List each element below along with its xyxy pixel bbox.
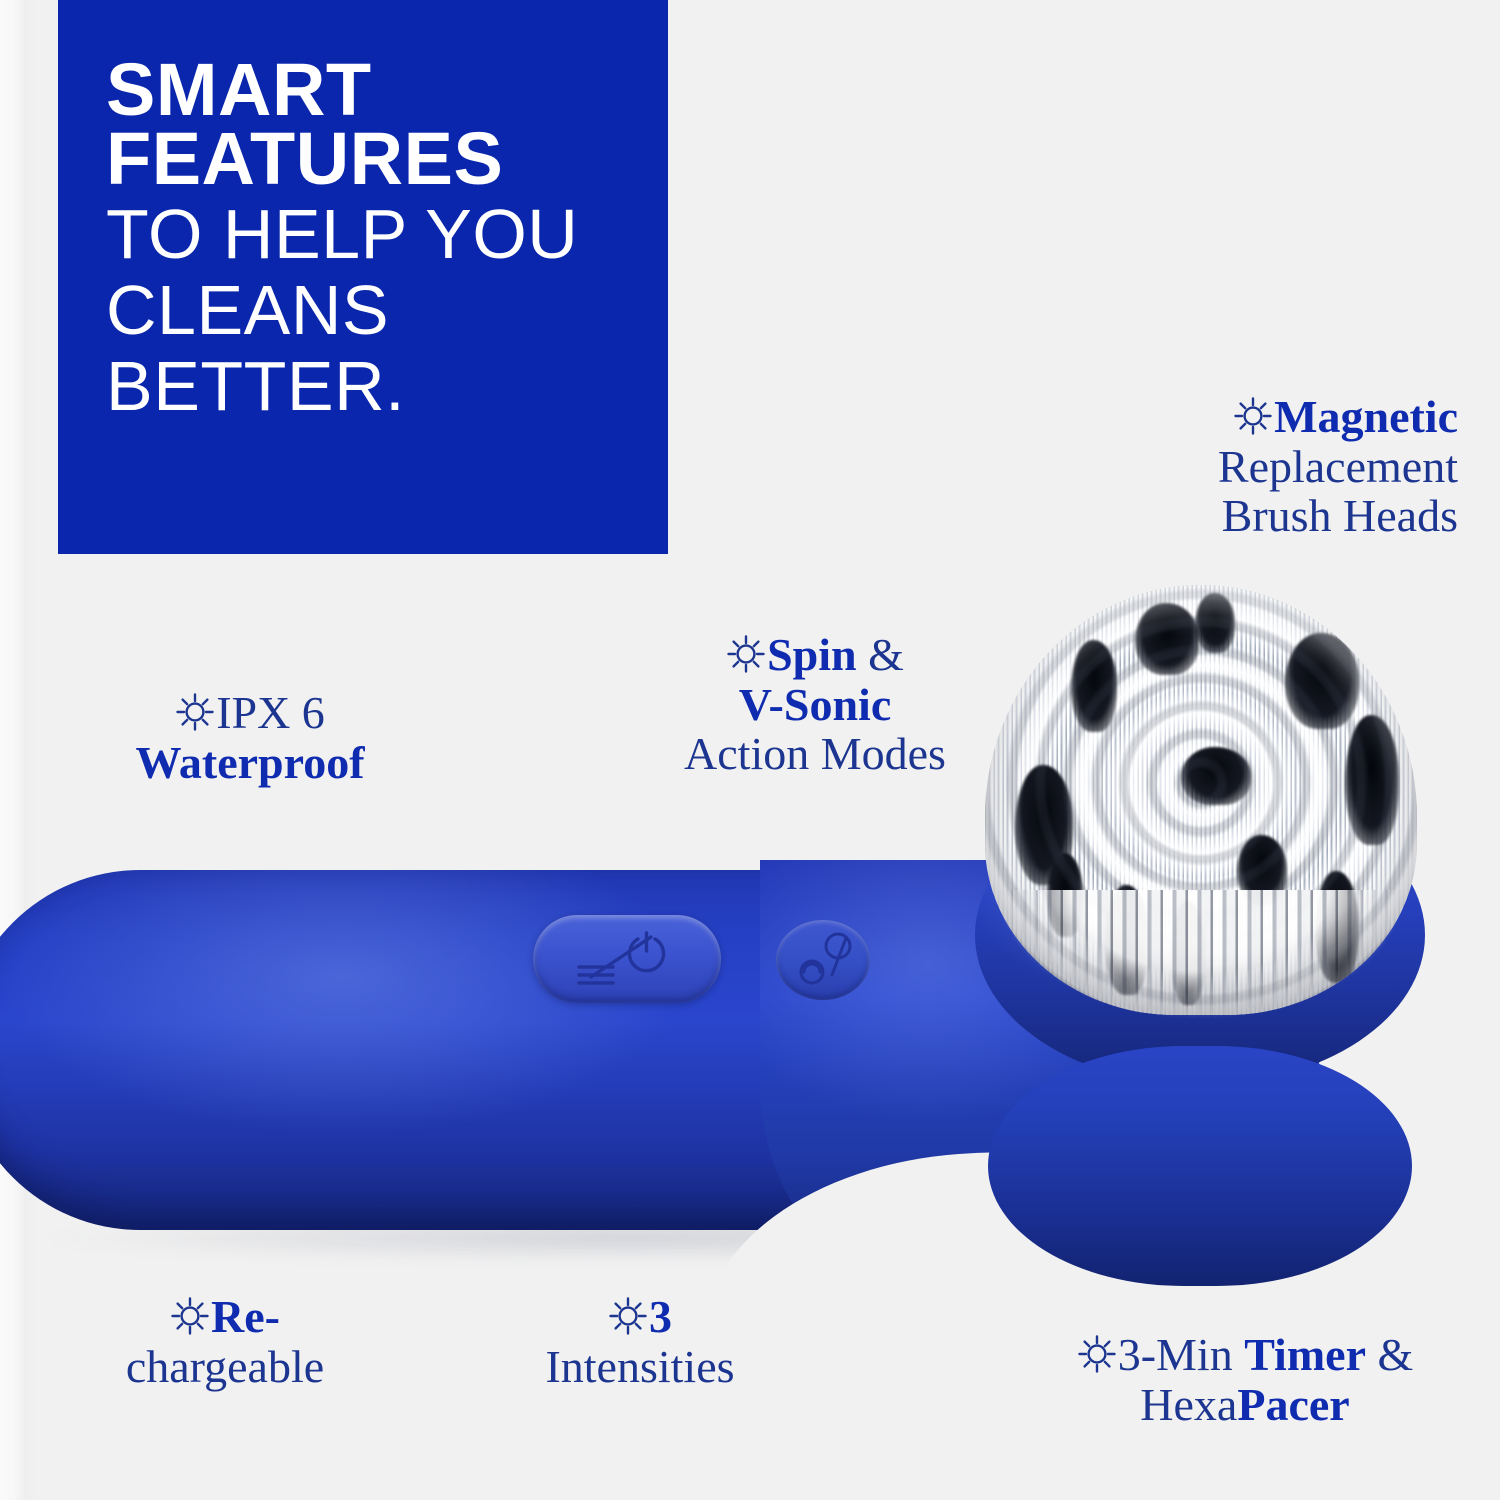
feature-action-modes: Spin & V-Sonic Action Modes — [625, 630, 1005, 779]
power-button[interactable] — [533, 915, 721, 1003]
sun-icon — [726, 634, 766, 674]
feature-timer-bold: Timer — [1244, 1329, 1366, 1380]
product-feature-infographic: SMART FEATURES TO HELP YOU CLEANS BETTER… — [0, 0, 1500, 1500]
feature-timer-ampersand: & — [1366, 1329, 1413, 1380]
headline-line-2: FEATURES — [106, 125, 668, 194]
headline-block: SMART FEATURES TO HELP YOU CLEANS BETTER… — [58, 0, 668, 554]
mode-button-glyph — [776, 920, 870, 1000]
feature-rechargeable-line-2: chargeable — [75, 1342, 375, 1392]
feature-waterproof-bold: Waterproof — [135, 737, 364, 788]
feature-action-line-3: Action Modes — [625, 729, 1005, 779]
headline-line-3: TO HELP YOU — [106, 198, 668, 270]
feature-intensities-line-2: Intensities — [495, 1342, 785, 1392]
feature-timer-lead: 3-Min — [1118, 1329, 1245, 1380]
brush-head-collar-lower — [988, 1046, 1412, 1286]
sun-icon — [1077, 1334, 1117, 1374]
feature-magnetic-line-1: Magnetic — [1040, 392, 1458, 442]
headline-line-1: SMART — [106, 56, 668, 125]
feature-intensities: 3 Intensities — [495, 1292, 785, 1391]
feature-magnetic-bold: Magnetic — [1274, 391, 1458, 442]
feature-pacer-lead: Hexa — [1140, 1379, 1237, 1430]
feature-magnetic-line-3: Brush Heads — [1040, 491, 1458, 541]
sun-icon — [1233, 396, 1273, 436]
sun-icon — [608, 1296, 648, 1336]
feature-action-ampersand: & — [857, 629, 904, 680]
feature-intensities-count: 3 — [649, 1291, 672, 1342]
headline-line-5: BETTER. — [106, 350, 668, 422]
feature-timer-line-1: 3-Min Timer & — [1030, 1330, 1460, 1380]
mode-button[interactable] — [776, 920, 870, 1000]
feature-action-spin: Spin — [767, 629, 857, 680]
headline-line-4: CLEANS — [106, 274, 668, 346]
feature-waterproof: IPX 6 Waterproof — [60, 688, 440, 787]
feature-action-line-2: V-Sonic — [625, 680, 1005, 730]
feature-rechargeable: Re- chargeable — [75, 1292, 375, 1391]
feature-waterproof-line-1: IPX 6 — [60, 688, 440, 738]
feature-magnetic-brush-heads: Magnetic Replacement Brush Heads — [1040, 392, 1458, 541]
feature-waterproof-ipx: IPX 6 — [216, 687, 325, 738]
feature-timer-line-2: HexaPacer — [1030, 1380, 1460, 1430]
feature-waterproof-line-2: Waterproof — [60, 738, 440, 788]
feature-rechargeable-bold: Re- — [211, 1291, 280, 1342]
feature-rechargeable-line-1: Re- — [75, 1292, 375, 1342]
feature-intensities-line-1: 3 — [495, 1292, 785, 1342]
feature-pacer-bold: Pacer — [1237, 1379, 1349, 1430]
feature-action-line-1: Spin & — [625, 630, 1005, 680]
feature-magnetic-line-2: Replacement — [1040, 442, 1458, 492]
feature-action-vsonic: V-Sonic — [739, 679, 892, 730]
sun-icon — [170, 1296, 210, 1336]
feature-timer-pacer: 3-Min Timer & HexaPacer — [1030, 1330, 1460, 1429]
sun-icon — [175, 692, 215, 732]
power-button-glyph — [533, 915, 721, 1003]
